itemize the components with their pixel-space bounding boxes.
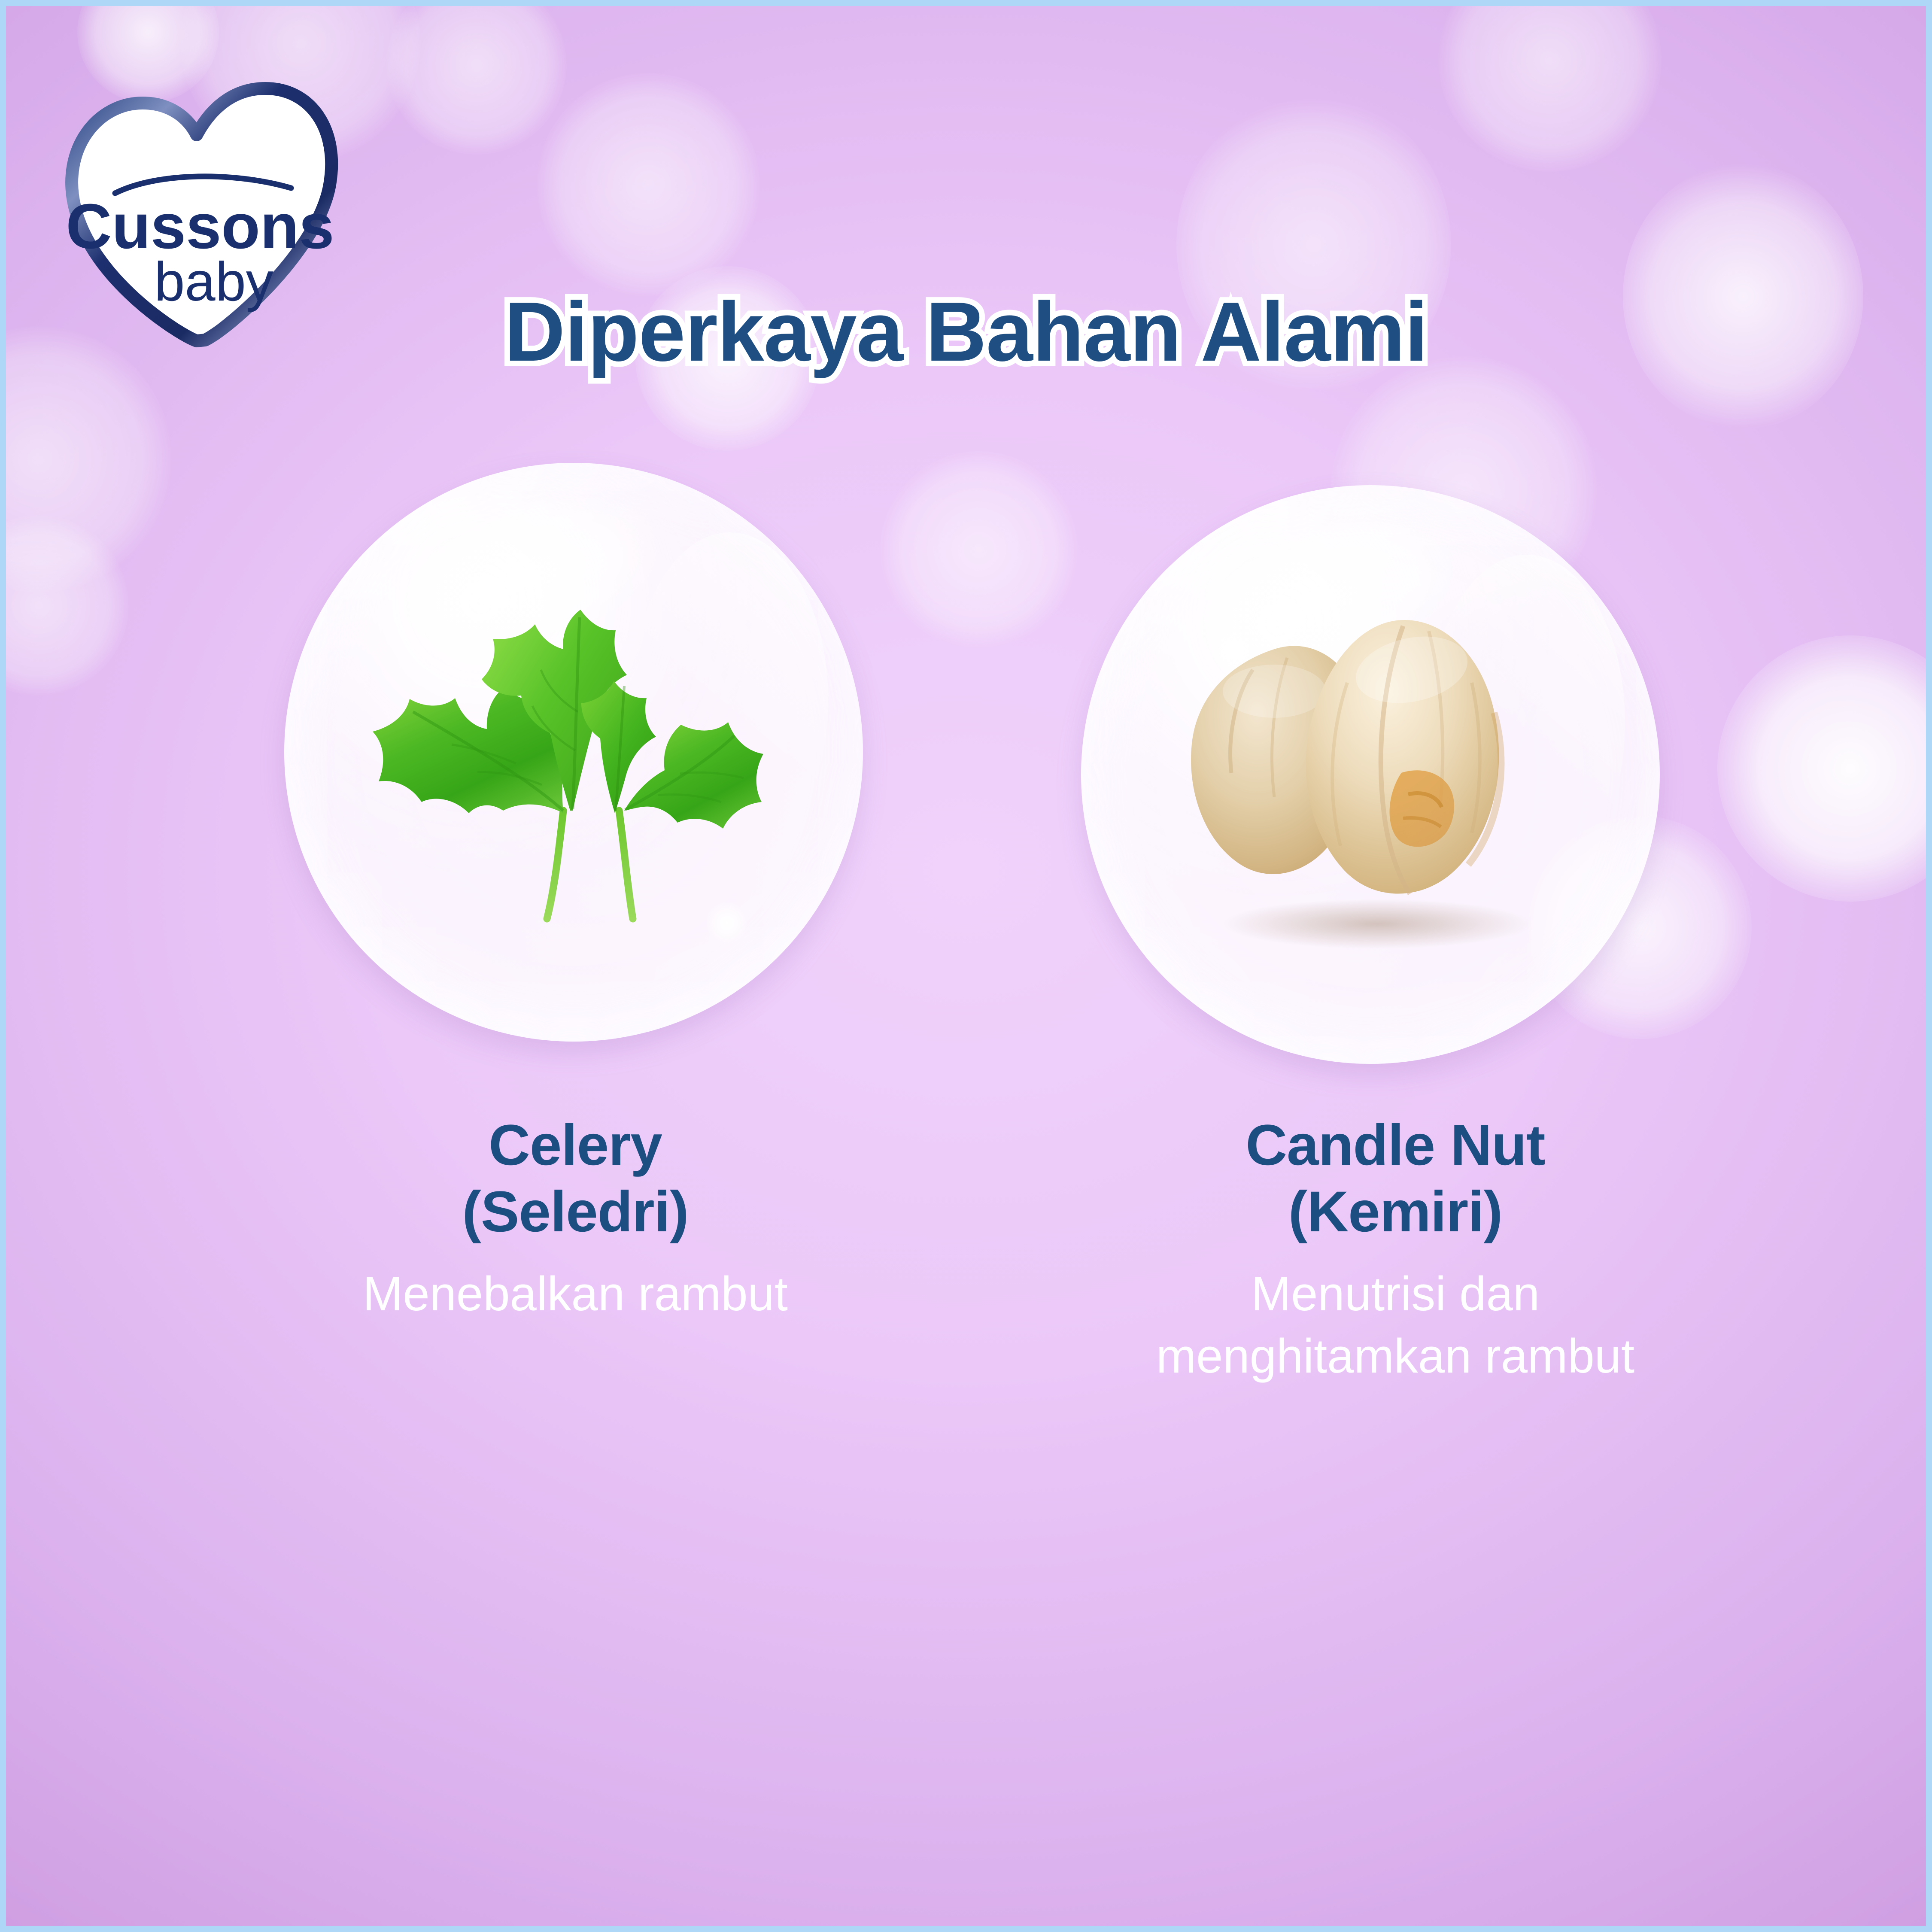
ingredient-description: Menutrisi dan menghitamkan rambut <box>1099 1263 1692 1388</box>
bokeh-circle <box>537 73 760 296</box>
bokeh-circle <box>1438 0 1662 172</box>
ingredient-caption-celery: Celery (Seledri) Menebalkan rambut <box>129 1112 1022 1325</box>
ingredient-bubble-candlenut <box>1081 485 1660 1064</box>
ingredient-bubble-celery <box>284 463 863 1042</box>
ingredient-name-en: Candle Nut <box>966 1112 1825 1179</box>
ingredient-caption-candlenut: Candle Nut (Kemiri) Menutrisi dan menghi… <box>966 1112 1825 1388</box>
bokeh-circle <box>1717 635 1932 902</box>
bokeh-circle <box>0 515 129 696</box>
promo-poster: Cussons baby Diperkaya Bahan Alami <box>0 0 1932 1932</box>
ingredient-name-id: (Kemiri) <box>966 1179 1825 1245</box>
candle-nut-icon <box>1145 605 1601 949</box>
ingredient-name-en: Celery <box>129 1112 1022 1179</box>
page-title: Diperkaya Bahan Alami <box>0 283 1932 380</box>
celery-leaves-icon <box>361 570 791 948</box>
ingredient-description: Menebalkan rambut <box>129 1263 1022 1325</box>
bokeh-circle <box>386 0 567 155</box>
bokeh-circle <box>880 451 1078 648</box>
ingredient-name-id: (Seledri) <box>129 1179 1022 1245</box>
